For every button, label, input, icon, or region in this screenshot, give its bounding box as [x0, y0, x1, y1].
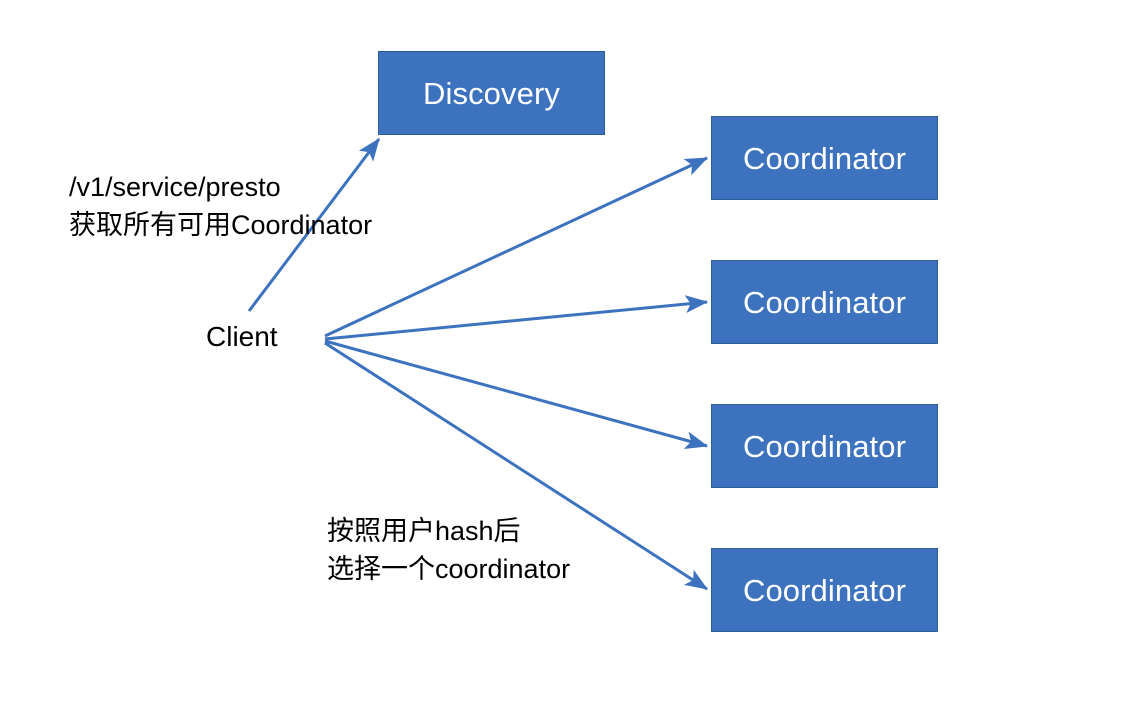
- coordinator-node-label: Coordinator: [743, 287, 906, 318]
- coordinator-node-label: Coordinator: [743, 143, 906, 174]
- diagram-canvas: Discovery Coordinator Coordinator Coordi…: [0, 0, 1140, 716]
- hash-note-line-2: 选择一个coordinator: [327, 550, 570, 588]
- coordinator-node-2[interactable]: Coordinator: [711, 260, 938, 344]
- client-node-label: Client: [206, 323, 278, 351]
- arrow-client-to-coordinator-3: [325, 341, 707, 446]
- discovery-request-line-1: /v1/service/presto: [69, 168, 372, 206]
- discovery-request-annotation: /v1/service/presto 获取所有可用Coordinator: [69, 168, 372, 244]
- discovery-node[interactable]: Discovery: [378, 51, 605, 135]
- discovery-node-label: Discovery: [423, 78, 560, 109]
- discovery-request-line-2: 获取所有可用Coordinator: [69, 206, 372, 244]
- coordinator-node-4[interactable]: Coordinator: [711, 548, 938, 632]
- arrow-client-to-coordinator-2: [325, 302, 707, 339]
- hash-note-line-1: 按照用户hash后: [327, 512, 570, 550]
- coordinator-node-label: Coordinator: [743, 431, 906, 462]
- coordinator-node-label: Coordinator: [743, 575, 906, 606]
- coordinator-node-3[interactable]: Coordinator: [711, 404, 938, 488]
- arrow-client-to-coordinator-1: [325, 158, 707, 336]
- hash-note-annotation: 按照用户hash后 选择一个coordinator: [327, 512, 570, 588]
- coordinator-node-1[interactable]: Coordinator: [711, 116, 938, 200]
